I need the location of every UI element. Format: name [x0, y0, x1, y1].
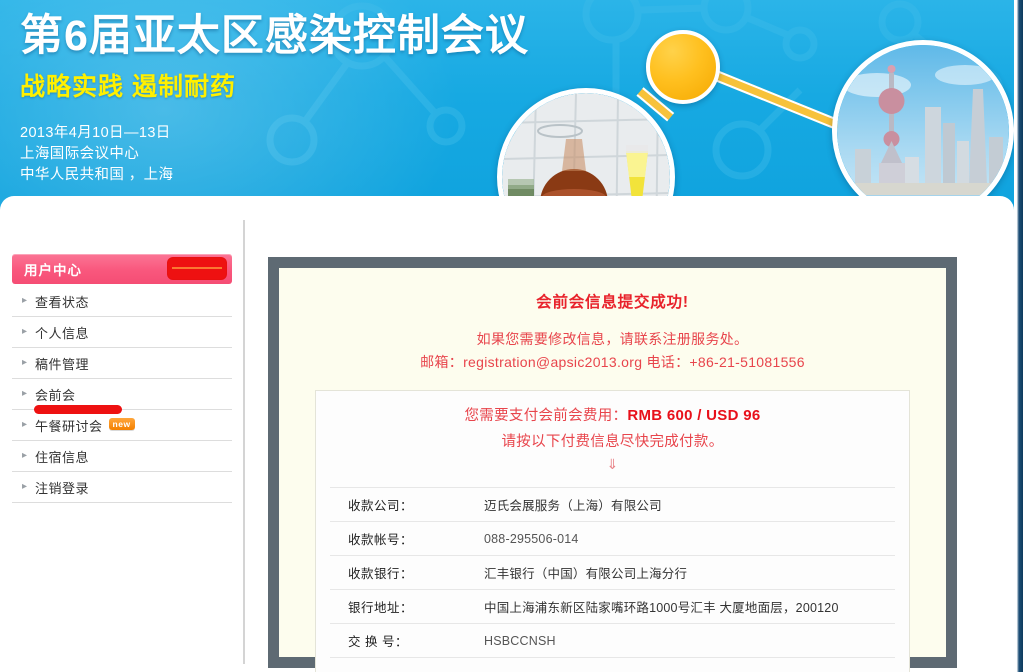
success-message-title: 会前会信息提交成功! [297, 290, 928, 312]
conference-meta: 2013年4月10日—13日 上海国际会议中心 中华人民共和国 ，上海 [20, 123, 529, 186]
user-center-sidebar: 用户中心 ▸ 查看状态 ▸ 个人信息 ▸ 稿件管理 ▸ 会 [12, 254, 232, 503]
chevron-right-icon: ▸ [22, 327, 27, 337]
contact-note-line2: 邮箱：registration@apsic2013.org 电话：+86-21-… [297, 351, 928, 374]
sidebar-item-label: 注销登录 [35, 478, 89, 497]
redaction-mark-username [168, 258, 226, 279]
conference-title: 第6届亚太区感染控制会议 [20, 14, 529, 60]
table-row: 交 换 号： HSBCCNSH [330, 624, 895, 658]
sidebar-item-label: 查看状态 [35, 292, 89, 311]
row-key: 收款银行： [330, 556, 480, 590]
fee-instruction: 请按以下付费信息尽快完成付款。 [316, 431, 909, 453]
sidebar-item-label: 会前会 [35, 385, 76, 404]
chevron-right-icon: ▸ [22, 358, 27, 368]
row-value: 中国上海浦东新区陆家嘴环路1000号汇丰 大厦地面层，200120 [480, 590, 895, 624]
double-down-arrow-icon: ⇓ [316, 455, 909, 473]
sidebar-item-manuscript-management[interactable]: ▸ 稿件管理 [12, 348, 232, 379]
phone-label: 电话： [642, 354, 689, 370]
fee-prefix-text: 您需要支付会前会费用： [465, 408, 628, 424]
contact-note: 如果您需要修改信息，请联系注册服务处。 邮箱：registration@apsi… [297, 328, 928, 374]
table-row: 收款公司： 迈氏会展服务（上海）有限公司 [330, 488, 895, 522]
chevron-right-icon: ▸ [22, 389, 27, 399]
conference-subtitle: 战略实践 遏制耐药 [20, 67, 529, 103]
new-badge: new [109, 418, 135, 430]
sidebar-item-accommodation[interactable]: ▸ 住宿信息 [12, 441, 232, 472]
registration-phone: +86-21-51081556 [689, 354, 804, 370]
confirmation-panel: 会前会信息提交成功! 如果您需要修改信息，请联系注册服务处。 邮箱：regist… [268, 257, 957, 668]
row-key: 收款帐号： [330, 522, 480, 556]
row-key: 收款公司： [330, 488, 480, 522]
content-area: 用户中心 ▸ 查看状态 ▸ 个人信息 ▸ 稿件管理 ▸ 会 [0, 212, 1014, 672]
chevron-right-icon: ▸ [22, 420, 27, 430]
page-right-edge [1014, 0, 1023, 672]
table-row: 银行地址： 中国上海浦东新区陆家嘴环路1000号汇丰 大厦地面层，200120 [330, 590, 895, 624]
contact-note-line1: 如果您需要修改信息，请联系注册服务处。 [297, 328, 928, 351]
sidebar-content-divider [243, 220, 245, 664]
banner-bottom-rounded-cover [0, 196, 1014, 212]
sidebar-item-premeeting[interactable]: ▸ 会前会 [12, 379, 232, 410]
registration-email[interactable]: registration@apsic2013.org [463, 354, 642, 370]
row-value: HSBCCNSH [480, 624, 895, 658]
sidebar-item-check-status[interactable]: ▸ 查看状态 [12, 286, 232, 317]
chevron-right-icon: ▸ [22, 451, 27, 461]
email-label: 邮箱： [420, 354, 463, 370]
sidebar-item-personal-info[interactable]: ▸ 个人信息 [12, 317, 232, 348]
annotation-underline-mark [34, 405, 122, 414]
site-banner: 第6届亚太区感染控制会议 战略实践 遏制耐药 2013年4月10日—13日 上海… [0, 0, 1014, 212]
row-key: 交 换 号： [330, 624, 480, 658]
shanghai-skyline-photo [832, 40, 1014, 212]
conference-venue: 上海国际会议中心 [20, 144, 529, 165]
sidebar-item-label: 个人信息 [35, 323, 89, 342]
table-row: 收款银行： 汇丰银行（中国）有限公司上海分行 [330, 556, 895, 590]
banner-text-block: 第6届亚太区感染控制会议 战略实践 遏制耐药 2013年4月10日—13日 上海… [20, 14, 529, 186]
payment-info-box: 您需要支付会前会费用：RMB 600 / USD 96 请按以下付费信息尽快完成… [315, 390, 910, 672]
table-row: 收款帐号： 088-295506-014 [330, 522, 895, 556]
conference-location: 中华人民共和国 ，上海 [20, 165, 529, 186]
sidebar-item-label: 午餐研讨会 [35, 416, 103, 435]
confirmation-panel-inner: 会前会信息提交成功! 如果您需要修改信息，请联系注册服务处。 邮箱：regist… [279, 268, 946, 672]
row-value: 汇丰银行（中国）有限公司上海分行 [480, 556, 895, 590]
sidebar-item-logout[interactable]: ▸ 注销登录 [12, 472, 232, 503]
row-value: 迈氏会展服务（上海）有限公司 [480, 488, 895, 522]
page-root: 第6届亚太区感染控制会议 战略实践 遏制耐药 2013年4月10日—13日 上海… [0, 0, 1023, 672]
sidebar-item-label: 稿件管理 [35, 354, 89, 373]
sidebar-menu: ▸ 查看状态 ▸ 个人信息 ▸ 稿件管理 ▸ 会前会 ▸ [12, 286, 232, 503]
row-key: 银行地址： [330, 590, 480, 624]
sidebar-item-lunch-symposium[interactable]: ▸ 午餐研讨会 new [12, 410, 232, 441]
fee-line: 您需要支付会前会费用：RMB 600 / USD 96 [316, 405, 909, 427]
sidebar-header: 用户中心 [12, 254, 232, 284]
chevron-right-icon: ▸ [22, 296, 27, 306]
chevron-right-icon: ▸ [22, 482, 27, 492]
row-value: 088-295506-014 [480, 522, 895, 556]
sidebar-item-label: 住宿信息 [35, 447, 89, 466]
fee-amount: RMB 600 / USD 96 [627, 407, 760, 424]
sidebar-header-title: 用户中心 [24, 259, 82, 279]
bank-details-table: 收款公司： 迈氏会展服务（上海）有限公司 收款帐号： 088-295506-01… [330, 487, 895, 658]
conference-date: 2013年4月10日—13日 [20, 123, 529, 144]
molecule-node-icon [646, 30, 720, 104]
